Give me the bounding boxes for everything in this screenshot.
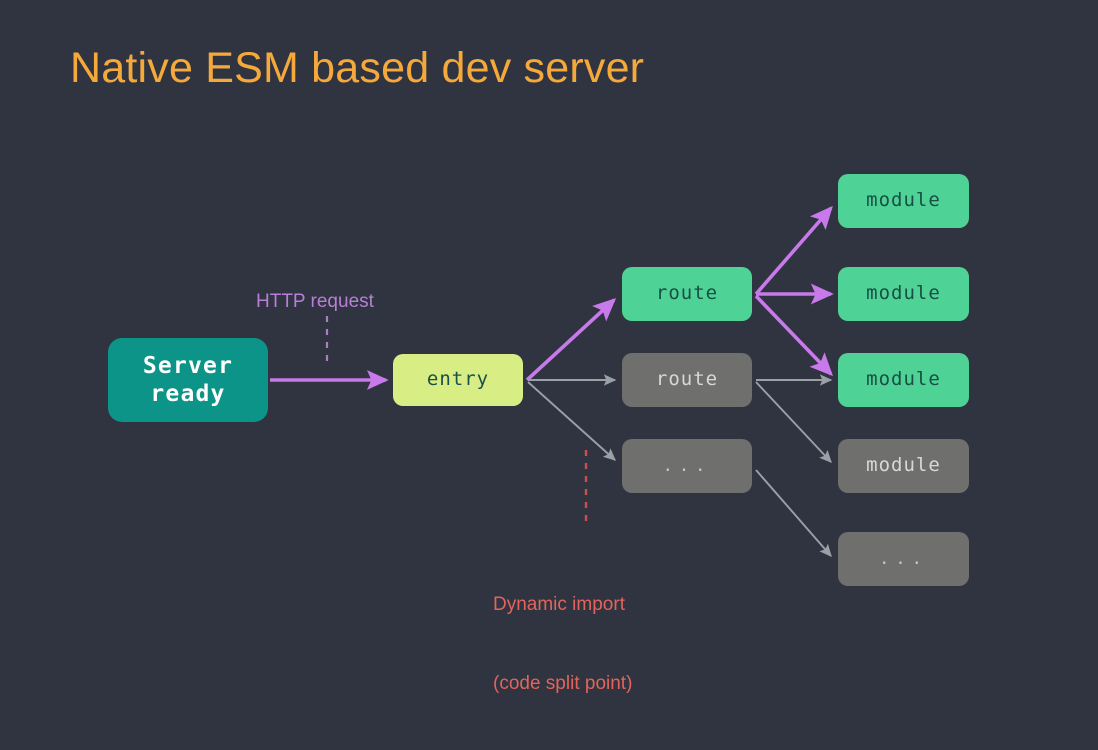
node-module-ellipsis-label: ... bbox=[879, 549, 928, 570]
node-module-ellipsis[interactable]: ... bbox=[838, 532, 969, 586]
node-route-ellipsis[interactable]: ... bbox=[622, 439, 752, 493]
node-route-inactive-label: route bbox=[656, 368, 718, 391]
node-module-1-label: module bbox=[866, 189, 941, 212]
node-entry[interactable]: entry bbox=[393, 354, 523, 406]
node-module-2-label: module bbox=[866, 282, 941, 305]
node-module-4[interactable]: module bbox=[838, 439, 969, 493]
edge-route-active-to-module-3 bbox=[756, 296, 831, 374]
node-module-3-label: module bbox=[866, 368, 941, 391]
node-module-3[interactable]: module bbox=[838, 353, 969, 407]
node-module-2[interactable]: module bbox=[838, 267, 969, 321]
edge-entry-to-route-dots bbox=[528, 382, 615, 460]
node-route-active[interactable]: route bbox=[622, 267, 752, 321]
node-entry-label: entry bbox=[427, 368, 489, 391]
node-route-active-label: route bbox=[656, 282, 718, 305]
node-route-ellipsis-label: ... bbox=[663, 456, 712, 477]
edge-entry-to-route-active bbox=[527, 300, 614, 380]
edge-route-dots-to-module-dots bbox=[756, 470, 831, 556]
edge-route-inactive-to-module-4 bbox=[756, 382, 831, 462]
node-route-inactive[interactable]: route bbox=[622, 353, 752, 407]
label-http-request: HTTP request bbox=[256, 289, 374, 315]
node-module-4-label: module bbox=[866, 454, 941, 477]
node-module-1[interactable]: module bbox=[838, 174, 969, 228]
slide-canvas: Native ESM based dev server bbox=[0, 0, 1098, 687]
node-server-ready[interactable]: Server ready bbox=[108, 338, 268, 422]
edge-route-active-to-module-1 bbox=[756, 208, 831, 294]
node-server-ready-label: Server ready bbox=[143, 352, 233, 408]
node-server-ready-line2: ready bbox=[150, 381, 225, 407]
label-dynamic-import: Dynamic import (code split point) bbox=[493, 540, 632, 750]
label-dynamic-import-line1: Dynamic import bbox=[493, 592, 632, 618]
node-server-ready-line1: Server bbox=[143, 353, 233, 379]
label-dynamic-import-line2: (code split point) bbox=[493, 671, 632, 697]
